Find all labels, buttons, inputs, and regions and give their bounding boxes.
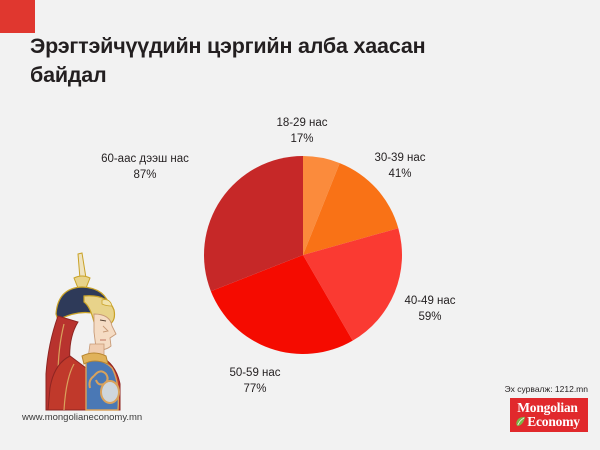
pie-label-40-49-value: 59% <box>340 310 520 326</box>
pie-label-40-49: 40-49 нас 59% <box>340 294 520 325</box>
pie-label-50-59-value: 77% <box>165 382 345 398</box>
pie-label-18-29-value: 17% <box>237 132 367 148</box>
infographic-canvas: Эрэгтэйчүүдийн цэргийн алба хаасан байда… <box>0 0 600 450</box>
pie-label-18-29: 18-29 нас 17% <box>237 116 367 147</box>
mongolian-economy-logo[interactable]: Mongolian Economy <box>510 398 588 432</box>
pie-label-30-39: 30-39 нас 41% <box>310 151 490 182</box>
pie-label-60-plus: 60-аас дээш нас 87% <box>55 152 235 183</box>
pie-label-50-59: 50-59 нас 77% <box>165 366 345 397</box>
site-url: www.mongolianeconomy.mn <box>22 412 142 423</box>
pie-label-30-39-name: 30-39 нас <box>374 152 425 164</box>
pie-label-60-plus-value: 87% <box>55 168 235 184</box>
logo-line-2: Economy <box>519 414 588 430</box>
pie-label-50-59-name: 50-59 нас <box>229 367 280 379</box>
pie-label-40-49-name: 40-49 нас <box>404 295 455 307</box>
pie-label-18-29-name: 18-29 нас <box>276 117 327 129</box>
mongolian-warrior-illustration <box>24 252 146 412</box>
pie-label-30-39-value: 41% <box>310 167 490 183</box>
pie-label-60-plus-name: 60-аас дээш нас <box>101 153 189 165</box>
source-label: Эх сурвалж: 1212.mn <box>505 384 588 394</box>
accent-square <box>0 0 35 33</box>
page-title: Эрэгтэйчүүдийн цэргийн алба хаасан байда… <box>30 32 460 89</box>
